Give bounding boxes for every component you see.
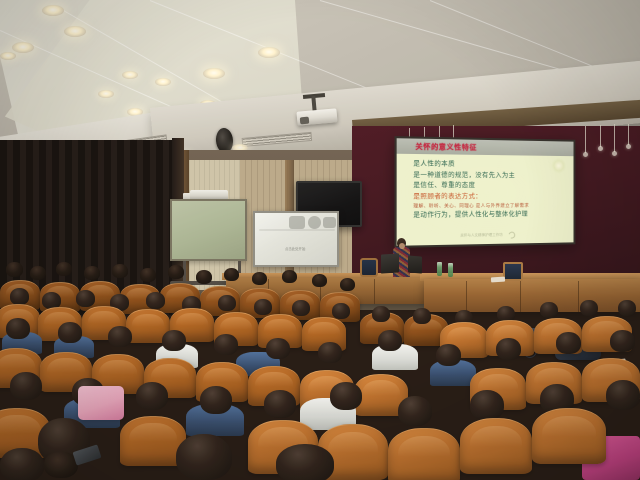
pink-backpack — [78, 386, 124, 420]
downlight-icon — [203, 68, 225, 79]
green-whiteboard — [170, 199, 247, 261]
screen-artifact — [323, 217, 336, 228]
laptop-second[interactable] — [408, 255, 422, 273]
student-head — [214, 334, 238, 355]
student-head — [200, 386, 232, 414]
student-head — [6, 318, 30, 339]
student-head — [30, 266, 46, 280]
presentation-slide: 关怀的意义性特征 是人性的本质 是一种道德的规范，没有先入为主 是信任、尊重的态… — [397, 138, 574, 246]
student-head — [496, 338, 521, 360]
student-head — [146, 292, 165, 309]
student-head — [470, 390, 504, 420]
hanging-rod — [600, 125, 601, 147]
student-head — [218, 295, 236, 311]
student-head — [340, 278, 355, 291]
student-head — [372, 306, 390, 322]
slide-title-bar: 关怀的意义性特征 — [397, 138, 574, 156]
screen-artifact — [259, 229, 335, 231]
student-head — [264, 390, 296, 418]
student-head — [282, 270, 297, 283]
student-head — [196, 270, 212, 284]
student-head — [10, 288, 29, 305]
student-head — [136, 382, 168, 410]
student-head — [266, 338, 290, 359]
student-head — [540, 302, 558, 318]
slide-line: 是信任、尊重的态度 — [413, 181, 566, 192]
laptop-open[interactable] — [381, 253, 399, 273]
student-head — [108, 326, 132, 347]
paper-sheet — [491, 277, 505, 283]
downlight-icon — [122, 71, 138, 79]
student-head — [610, 330, 635, 352]
student-head — [162, 330, 186, 351]
student-head — [436, 344, 461, 366]
hanging-rod — [614, 124, 615, 152]
chair-back — [360, 258, 378, 277]
water-bottle — [448, 263, 453, 277]
interactive-whiteboard[interactable]: 点击此处开始 — [253, 211, 339, 267]
student-head — [580, 300, 598, 316]
interactive-whiteboard-caption: 点击此处开始 — [285, 246, 305, 251]
student-head — [168, 265, 184, 279]
student-head — [6, 262, 23, 277]
student-head — [292, 300, 310, 316]
student-head — [312, 274, 327, 287]
screen-artifact — [308, 216, 321, 229]
student-head — [556, 332, 581, 354]
student-head — [318, 342, 342, 363]
student-head — [276, 444, 334, 480]
water-bottle — [437, 262, 442, 276]
auditorium-seat — [532, 408, 606, 464]
student-head — [398, 396, 432, 426]
student-head — [378, 330, 402, 351]
slide-line: 是照顾者的表达方式： — [413, 191, 566, 202]
student-head — [413, 308, 431, 324]
lecture-hall-photo: 关怀的意义性特征 是人性的本质 是一种道德的规范，没有先入为主 是信任、尊重的态… — [0, 0, 640, 480]
slide-title: 关怀的意义性特征 — [415, 141, 477, 152]
student-head — [140, 268, 156, 282]
hanging-rod-bead — [626, 144, 631, 149]
student-head — [224, 268, 239, 281]
downlight-icon — [12, 42, 34, 53]
student-head — [332, 303, 350, 319]
projector-lens-icon — [300, 117, 310, 125]
downlight-icon — [98, 90, 114, 98]
desk-seam — [466, 281, 467, 312]
student-head — [0, 448, 44, 480]
hanging-rod — [585, 126, 586, 153]
student-head — [76, 290, 95, 307]
slide-line: 是动作行为，提供人性化与整体化护理 — [413, 209, 566, 221]
slide-footer-text: 关怀与人文精神护理工作坊 — [460, 233, 503, 239]
downlight-icon — [155, 78, 171, 86]
student-head — [10, 372, 42, 400]
student-head — [330, 382, 362, 410]
student-head — [606, 380, 640, 410]
student-head — [84, 266, 100, 280]
hanging-rod-bead — [583, 152, 588, 157]
stage-chair — [358, 258, 380, 286]
hanging-rod — [628, 124, 629, 145]
chair-back — [503, 262, 523, 281]
logo-mark-icon — [507, 230, 516, 239]
downlight-icon — [0, 52, 16, 60]
downlight-icon — [64, 26, 86, 37]
auditorium-seat — [460, 418, 532, 474]
desk-seam — [578, 281, 579, 312]
screen-artifact — [289, 216, 305, 229]
hanging-rod-bead — [598, 146, 603, 151]
student-head — [254, 299, 272, 315]
rear-wooden-counter — [424, 279, 640, 312]
slide-body: 是人性的本质 是一种道德的规范，没有先入为主 是信任、尊重的态度 是照顾者的表达… — [413, 159, 566, 221]
student-head — [112, 264, 128, 278]
student-head — [58, 322, 82, 343]
student-head — [56, 262, 72, 276]
student-head — [252, 272, 267, 285]
interactive-whiteboard-screen[interactable]: 点击此处开始 — [255, 213, 337, 265]
downlight-icon — [42, 5, 64, 16]
wooden-chair — [500, 262, 526, 288]
slide-footer: 关怀与人文精神护理工作坊 — [397, 230, 574, 242]
student-head — [618, 300, 636, 316]
presenter-face — [399, 243, 405, 249]
auditorium-seat — [388, 428, 460, 480]
hanging-rod-bead — [612, 151, 617, 156]
student-head — [176, 434, 232, 480]
slide-line: 是一种道德的规范，没有先入为主 — [413, 170, 566, 181]
downlight-icon — [258, 47, 280, 58]
projection-screen: 关怀的意义性特征 是人性的本质 是一种道德的规范，没有先入为主 是信任、尊重的态… — [395, 136, 576, 248]
